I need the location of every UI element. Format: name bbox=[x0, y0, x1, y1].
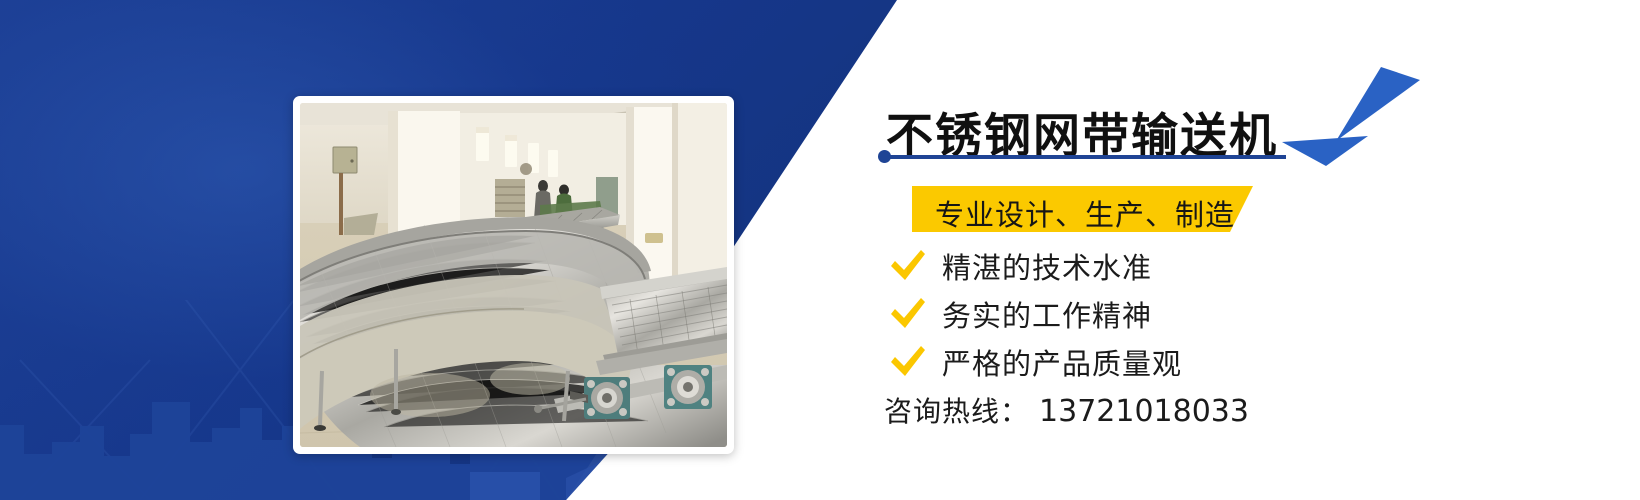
banner-content: 不锈钢网带输送机 专业设计、生产、制造 精湛的技术水准 务实的工作精神 bbox=[878, 0, 1640, 500]
feature-label: 严格的产品质量观 bbox=[942, 341, 1182, 383]
hotline: 咨询热线：13721018033 bbox=[884, 390, 1249, 430]
feature-label: 务实的工作精神 bbox=[942, 293, 1152, 335]
list-item: 精湛的技术水准 bbox=[886, 242, 1306, 290]
check-icon bbox=[889, 297, 927, 331]
product-banner: 不锈钢网带输送机 专业设计、生产、制造 精湛的技术水准 务实的工作精神 bbox=[0, 0, 1640, 500]
hotline-label: 咨询热线： bbox=[884, 395, 1029, 428]
list-item: 严格的产品质量观 bbox=[886, 338, 1306, 386]
check-icon bbox=[889, 249, 927, 283]
product-photo bbox=[300, 103, 727, 447]
tagline-text: 专业设计、生产、制造 bbox=[935, 192, 1235, 234]
feature-list: 精湛的技术水准 务实的工作精神 严格的产品质量观 bbox=[886, 242, 1306, 386]
hotline-number[interactable]: 13721018033 bbox=[1029, 394, 1249, 429]
check-icon bbox=[889, 345, 927, 379]
feature-label: 精湛的技术水准 bbox=[942, 245, 1152, 287]
underline-rule-icon bbox=[883, 155, 1286, 159]
conveyor-photo-illustration bbox=[300, 103, 727, 447]
product-photo-frame bbox=[293, 96, 734, 454]
double-triangle-arrow-icon bbox=[1282, 52, 1427, 187]
list-item: 务实的工作精神 bbox=[886, 290, 1306, 338]
